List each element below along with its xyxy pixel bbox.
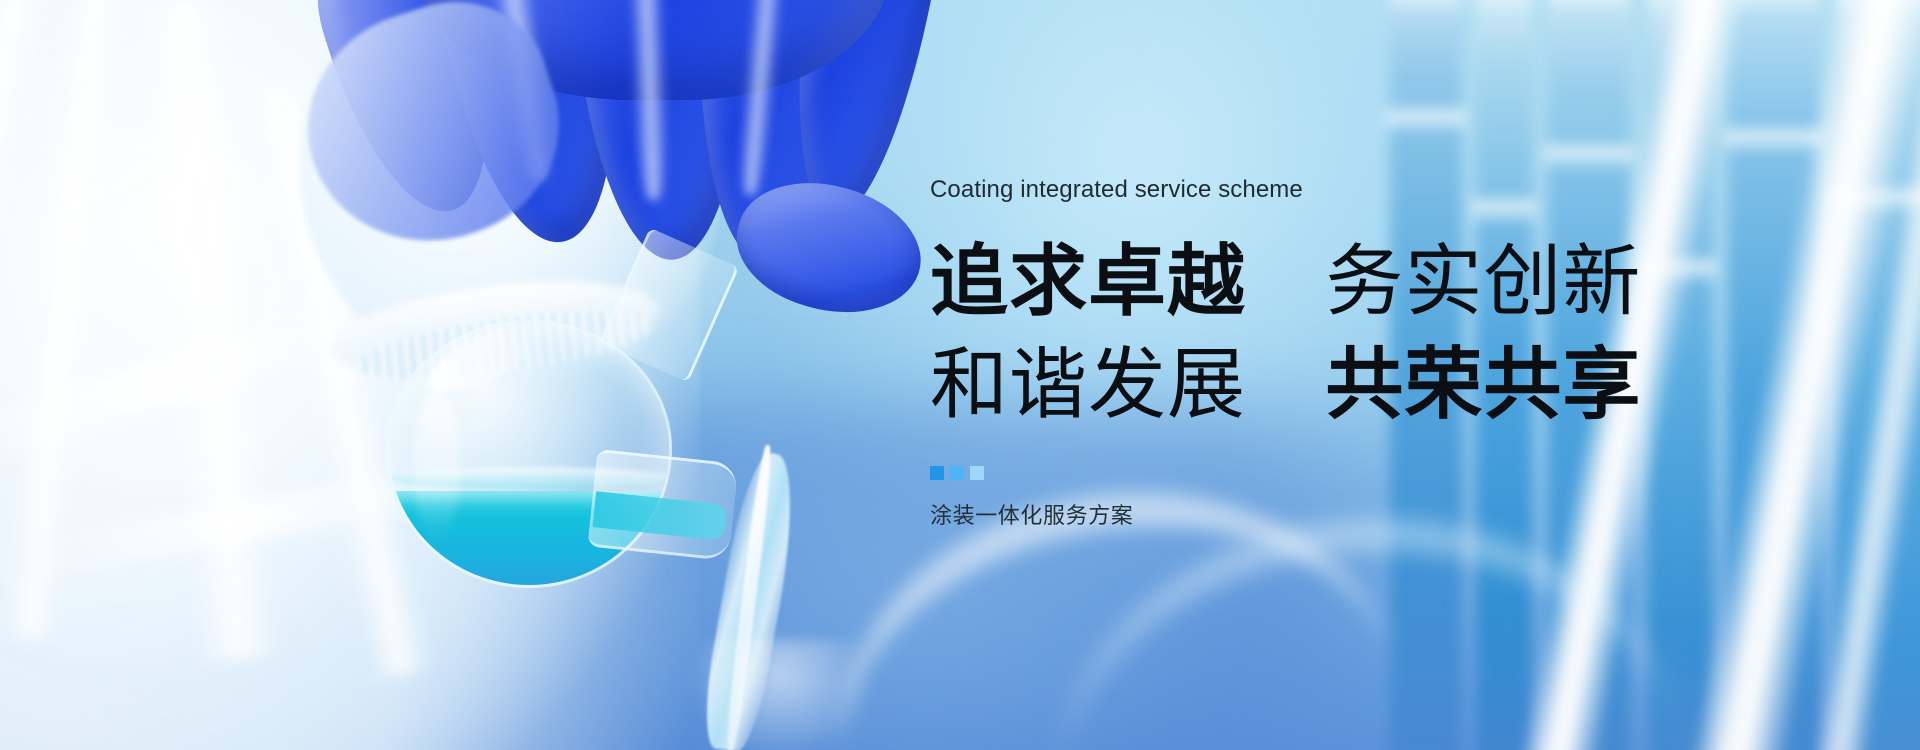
flask-highlight bbox=[413, 389, 461, 539]
hero-banner: Coating integrated service scheme 追求卓越 务… bbox=[0, 0, 1920, 750]
headline-line-2: 和谐发展 共荣共享 bbox=[930, 333, 1630, 436]
banner-eyebrow: Coating integrated service scheme bbox=[930, 178, 1630, 202]
marker-square-2 bbox=[950, 466, 964, 480]
headline-line-2-bold: 共荣共享 bbox=[1325, 340, 1641, 428]
glass-flask-image bbox=[370, 300, 790, 600]
headline-line-1-light: 务实创新 bbox=[1325, 237, 1641, 325]
decorative-marker-group bbox=[930, 466, 1630, 480]
marker-square-1 bbox=[930, 466, 944, 480]
marker-square-3 bbox=[970, 466, 984, 480]
banner-subtitle: 涂装一体化服务方案 bbox=[930, 505, 1630, 527]
banner-headline: 追求卓越 务实创新 和谐发展 共荣共享 bbox=[930, 230, 1630, 436]
banner-text-block: Coating integrated service scheme 追求卓越 务… bbox=[930, 178, 1630, 527]
headline-line-1-bold: 追求卓越 bbox=[930, 237, 1246, 325]
headline-line-1: 追求卓越 务实创新 bbox=[930, 230, 1630, 333]
headline-line-2-light: 和谐发展 bbox=[930, 340, 1246, 428]
